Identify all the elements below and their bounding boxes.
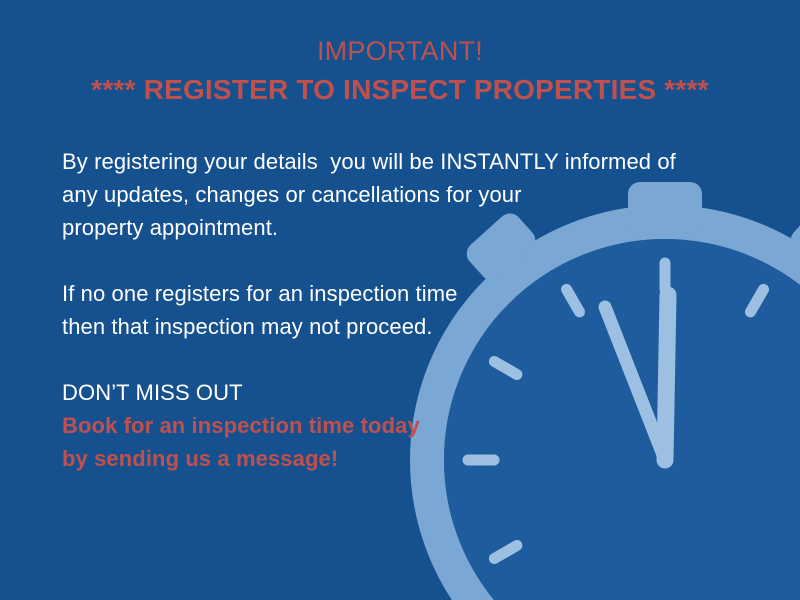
cta-dont-miss-out: DON’T MISS OUT: [62, 376, 722, 409]
cta-book-inspection: Book for an inspection time today: [62, 409, 722, 442]
paragraph-spacer: [62, 244, 722, 277]
body-block: By registering your details you will be …: [62, 145, 722, 475]
cta-send-message: by sending us a message!: [62, 442, 722, 475]
headline-register: **** REGISTER TO INSPECT PROPERTIES ****: [0, 72, 800, 108]
paragraph-no-registration-warning: If no one registers for an inspection ti…: [62, 277, 722, 343]
headline-important: IMPORTANT!: [0, 34, 800, 68]
paragraph-registering-details: By registering your details you will be …: [62, 145, 722, 244]
headline-block: IMPORTANT! **** REGISTER TO INSPECT PROP…: [0, 34, 800, 108]
poster-content: IMPORTANT! **** REGISTER TO INSPECT PROP…: [0, 0, 800, 600]
poster-canvas: IMPORTANT! **** REGISTER TO INSPECT PROP…: [0, 0, 800, 600]
paragraph-spacer: [62, 343, 722, 376]
